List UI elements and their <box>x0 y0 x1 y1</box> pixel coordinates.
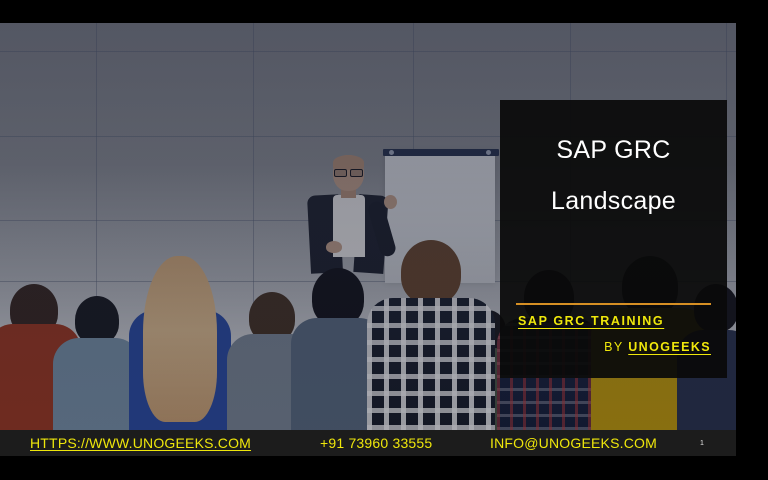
title-overlay-panel: SAP GRC Landscape SAP GRC TRAINING BY UN… <box>500 100 727 378</box>
letterbox-bottom <box>0 456 768 480</box>
title-line-1: SAP GRC <box>500 138 727 163</box>
letterbox-right <box>736 0 768 456</box>
audience-member-front-6 <box>366 240 496 430</box>
slide-canvas: SAP GRC Landscape SAP GRC TRAINING BY UN… <box>0 0 768 480</box>
byline-prefix: BY <box>604 340 623 354</box>
flipchart-rail <box>383 149 499 156</box>
footer-bar: HTTPS://WWW.UNOGEEKS.COM +91 73960 33555… <box>0 430 768 456</box>
title-line-2: Landscape <box>500 189 727 214</box>
training-label: SAP GRC TRAINING <box>518 314 664 328</box>
slide-title: SAP GRC Landscape <box>500 138 727 214</box>
accent-divider <box>516 303 711 305</box>
footer-website-link[interactable]: HTTPS://WWW.UNOGEEKS.COM <box>30 435 251 451</box>
letterbox-top <box>0 0 768 23</box>
page-number: 1 <box>700 440 704 447</box>
footer-phone-number[interactable]: +91 73960 33555 <box>320 435 432 451</box>
footer-email-address[interactable]: INFO@UNOGEEKS.COM <box>490 435 657 451</box>
audience-member-front-3 <box>128 252 232 430</box>
brand-name[interactable]: UNOGEEKS <box>628 340 711 354</box>
byline: BY UNOGEEKS <box>604 340 711 354</box>
